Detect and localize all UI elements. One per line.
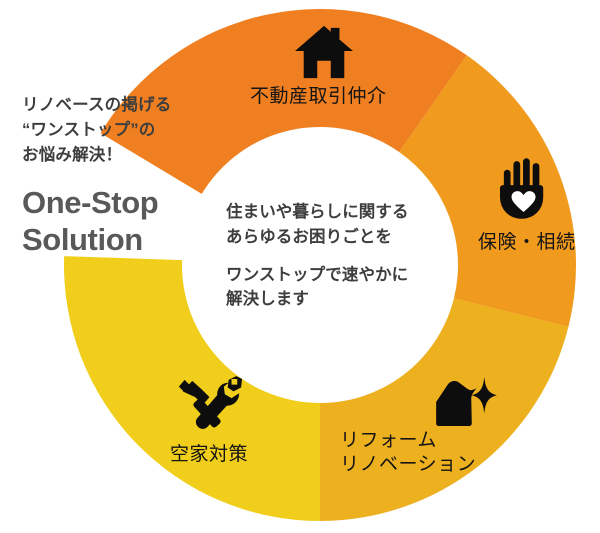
segment-label-insurance: 保険・相続 (478, 231, 576, 255)
center-text-block: 住まいや暮らしに関する あらゆるお困りごとを ワンストップで速やかに 解決します (226, 200, 456, 312)
tools-icon (176, 370, 243, 430)
left-text-block: リノベースの掲げる “ワンストップ”の お悩み解決！ One-Stop Solu… (22, 93, 237, 258)
lead-copy: リノベースの掲げる “ワンストップ”の お悩み解決！ (22, 93, 237, 168)
hand-heart-icon (500, 158, 548, 220)
house-sparkle-icon (434, 375, 498, 427)
segment-label-vacant-house: 空家対策 (170, 443, 248, 467)
house-icon (293, 24, 355, 80)
page-title: One-Stop Solution (22, 185, 237, 258)
segment-label-reform: リフォーム リノベーション (340, 429, 476, 478)
center-copy-line-1: 住まいや暮らしに関する あらゆるお困りごとを (226, 200, 456, 250)
infographic-canvas: 不動産取引仲介 保険・相続 リフォーム リノベーション 空家対策 リノベースの掲… (0, 0, 600, 533)
center-copy-line-2: ワンストップで速やかに 解決します (226, 263, 456, 313)
segment-label-real-estate: 不動産取引仲介 (250, 85, 387, 109)
